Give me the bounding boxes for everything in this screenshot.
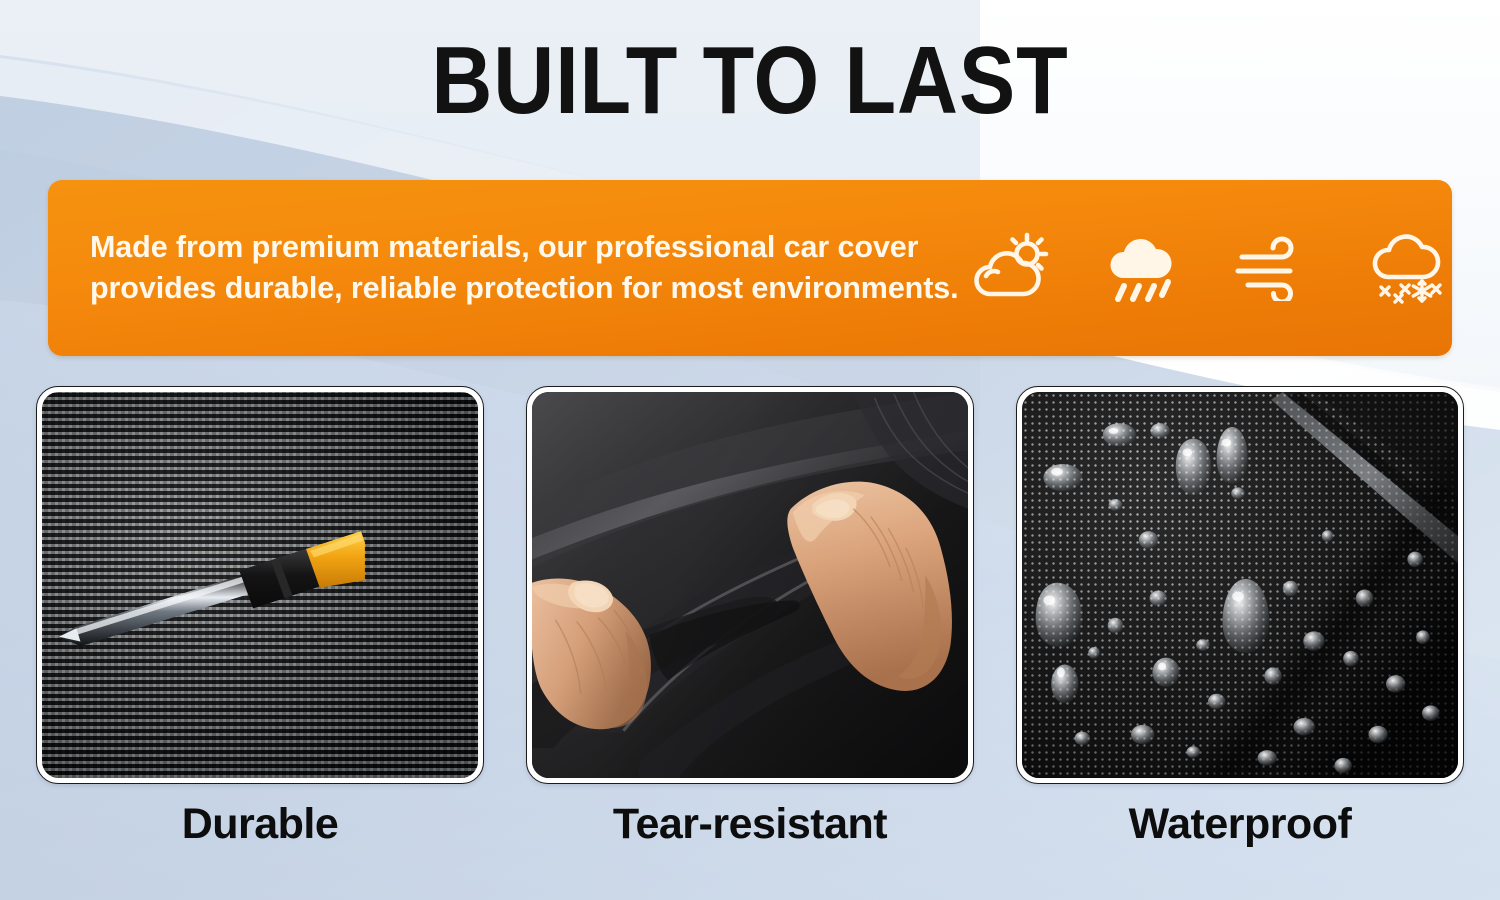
feature-card-durable: Durable <box>36 386 484 849</box>
promo-banner: Made from premium materials, our profess… <box>48 180 1452 356</box>
water-beading-fabric-photo <box>1022 392 1458 778</box>
feature-image-frame <box>526 386 974 784</box>
water-droplets-illustration <box>1022 392 1458 778</box>
screwdriver-illustration <box>51 516 365 686</box>
snow-cloud-icon <box>1368 231 1452 305</box>
woven-fabric-screwdriver-photo <box>42 392 478 778</box>
feature-card-row: Durable <box>0 386 1500 849</box>
feature-card-tear-resistant: Tear-resistant <box>526 386 974 849</box>
feature-image-frame <box>1016 386 1464 784</box>
feature-label: Waterproof <box>1016 800 1464 849</box>
page-title: BUILT TO LAST <box>90 28 1410 134</box>
feature-image-frame <box>36 386 484 784</box>
stretching-fabric-illustration <box>532 392 968 778</box>
weather-icon-group <box>970 231 1486 305</box>
hands-stretching-fabric-photo <box>532 392 968 778</box>
feature-label: Durable <box>36 800 484 849</box>
feature-card-waterproof: Waterproof <box>1016 386 1464 849</box>
promo-banner-text: Made from premium materials, our profess… <box>90 227 970 309</box>
wind-icon <box>1234 235 1320 301</box>
rain-cloud-icon <box>1104 232 1186 304</box>
sun-behind-cloud-icon <box>970 232 1056 304</box>
feature-label: Tear-resistant <box>526 800 974 849</box>
